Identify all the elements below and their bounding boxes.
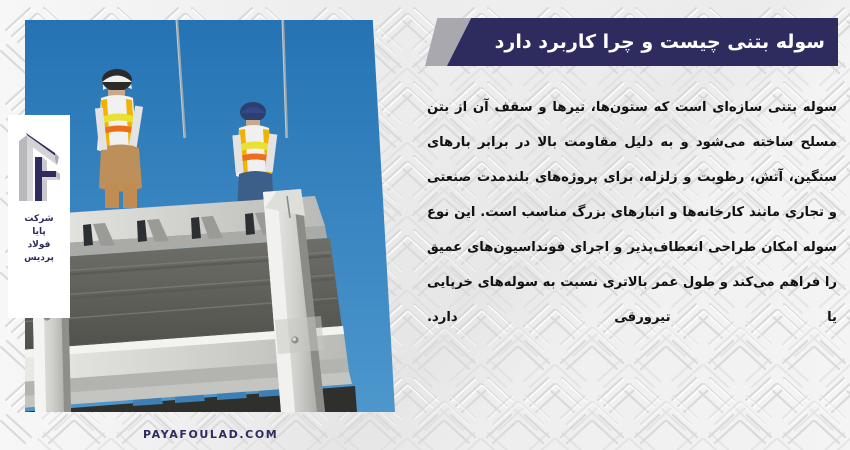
article-body-text: سوله بتنی سازه‌ای است که ستون‌ها، تیرها … (427, 90, 837, 335)
logo-line-3: فولاد (24, 239, 54, 252)
logo-line-2: پایا (24, 226, 54, 239)
logo-company-name: شرکت پایا فولاد پردیس (24, 213, 54, 265)
title-bar: سوله بتنی چیست و چرا کاربرد دارد (447, 18, 838, 66)
letter-f-monogram-icon (17, 127, 61, 205)
title-banner: سوله بتنی چیست و چرا کاربرد دارد (425, 18, 838, 66)
banner-canvas: شرکت پایا فولاد پردیس PAYAFOULAD.COM سول… (0, 0, 850, 450)
page-title: سوله بتنی چیست و چرا کاربرد دارد (495, 33, 825, 52)
logo-line-1: شرکت (24, 213, 54, 226)
footer-website-url: PAYAFOULAD.COM (143, 428, 278, 441)
hero-photo (25, 20, 395, 412)
company-logo-card: شرکت پایا فولاد پردیس (8, 115, 70, 318)
logo-line-4: پردیس (24, 252, 54, 265)
